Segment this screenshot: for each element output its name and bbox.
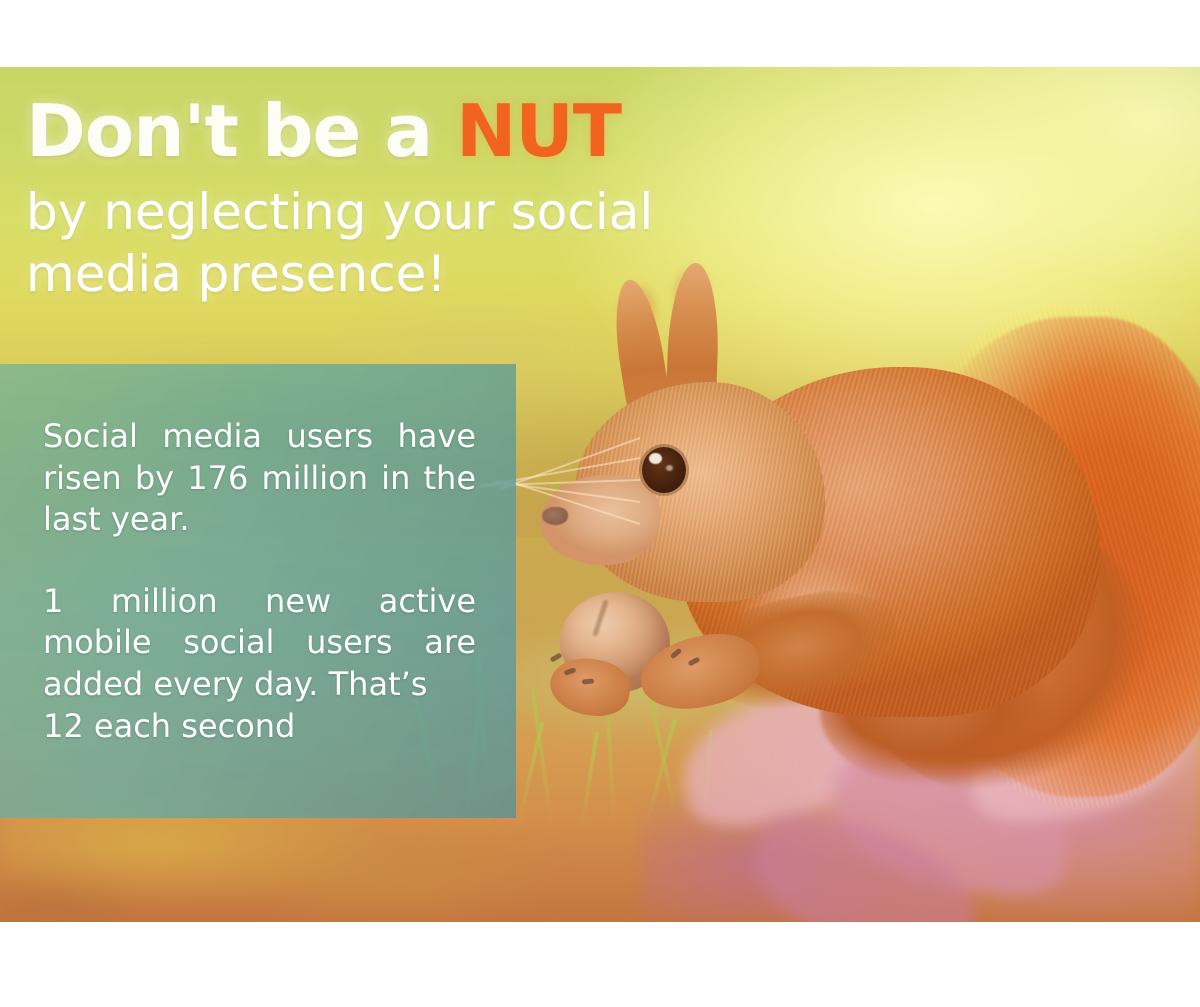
subtitle-line-1: by neglecting your social	[26, 181, 786, 243]
eye-highlight	[649, 453, 662, 464]
stat-paragraph-users: Social media users have risen by 176 mil…	[43, 416, 476, 541]
stat-mobile-part-3: 12 each second	[43, 706, 476, 748]
page-title: Don't be a NUT	[26, 95, 786, 167]
squirrel-illustration	[520, 307, 1200, 827]
headline-main-text: Don't be a	[26, 89, 456, 173]
eye-highlight-secondary	[666, 465, 673, 471]
stat-paragraph-mobile: 1 million new active mobile social users…	[43, 581, 476, 747]
stat-mobile-part-2: added every day. That’s	[43, 665, 427, 703]
claw	[550, 652, 563, 662]
poster-frame: Don't be a NUT by neglecting your social…	[0, 0, 1200, 1007]
subtitle-line-2: media presence!	[26, 243, 786, 305]
stat-mobile-part-1: 1 million new active mobile social users…	[43, 582, 476, 662]
headline-accent-text: NUT	[456, 89, 621, 173]
squirrel-eye	[642, 447, 686, 493]
stats-panel: Social media users have risen by 176 mil…	[0, 364, 516, 818]
poster-graphic: Don't be a NUT by neglecting your social…	[0, 67, 1200, 922]
headline-block: Don't be a NUT by neglecting your social…	[26, 95, 786, 305]
page-subtitle: by neglecting your social media presence…	[26, 181, 786, 305]
